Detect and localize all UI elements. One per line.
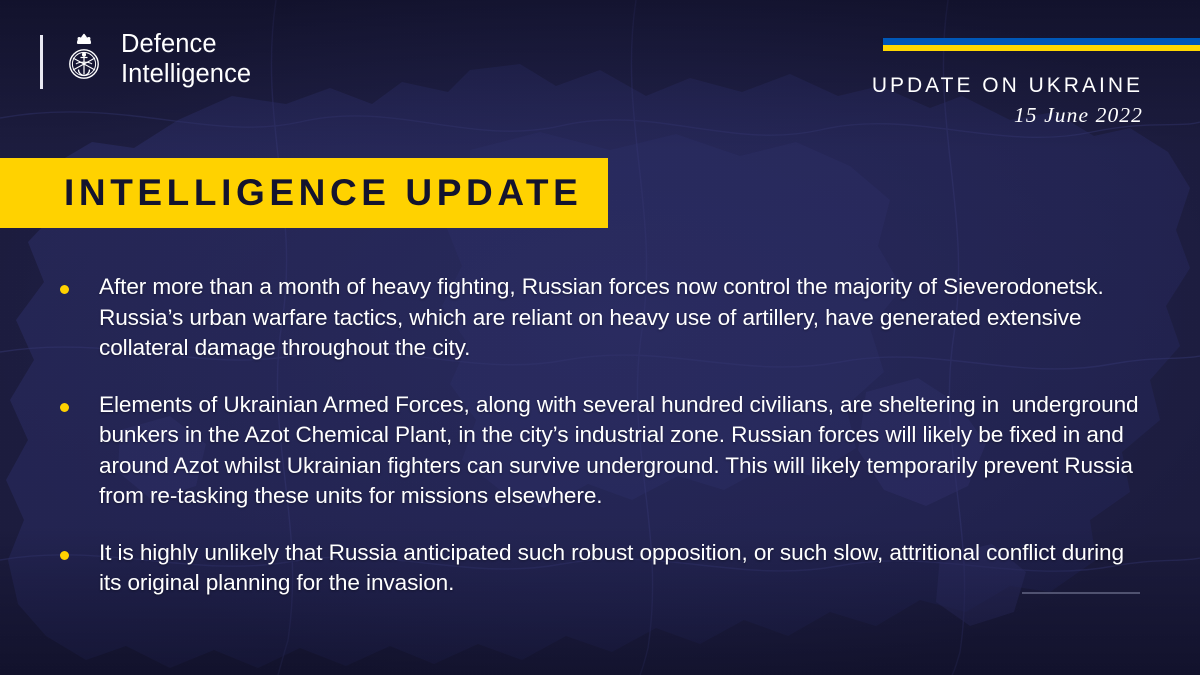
intelligence-update-banner: INTELLIGENCE UPDATE [0, 158, 608, 228]
bullet-text: After more than a month of heavy fightin… [99, 272, 1150, 364]
list-item: Elements of Ukrainian Armed Forces, alon… [60, 390, 1150, 512]
bullet-dot-icon [60, 551, 69, 560]
brand-name: Defence Intelligence [121, 30, 251, 89]
bullet-text: It is highly unlikely that Russia antici… [99, 538, 1150, 599]
bullet-text: Elements of Ukrainian Armed Forces, alon… [99, 390, 1150, 512]
mod-tri-service-crest-icon [61, 31, 107, 89]
brand-line-2: Intelligence [121, 60, 251, 90]
banner-label: INTELLIGENCE UPDATE [64, 172, 582, 214]
brand-lockup: Defence Intelligence [40, 30, 251, 89]
bullet-dot-icon [60, 285, 69, 294]
list-item: After more than a month of heavy fightin… [60, 272, 1150, 364]
list-item: It is highly unlikely that Russia antici… [60, 538, 1150, 599]
bullet-list: After more than a month of heavy fightin… [60, 272, 1150, 599]
brand-divider [40, 35, 43, 89]
intelligence-update-poster: Defence Intelligence UPDATE ON UKRAINE 1… [0, 0, 1200, 675]
update-title: UPDATE ON UKRAINE [872, 74, 1143, 98]
update-date: 15 June 2022 [872, 103, 1143, 128]
brand-line-1: Defence [121, 30, 251, 60]
bullet-dot-icon [60, 403, 69, 412]
header-right: UPDATE ON UKRAINE 15 June 2022 [872, 38, 1143, 128]
